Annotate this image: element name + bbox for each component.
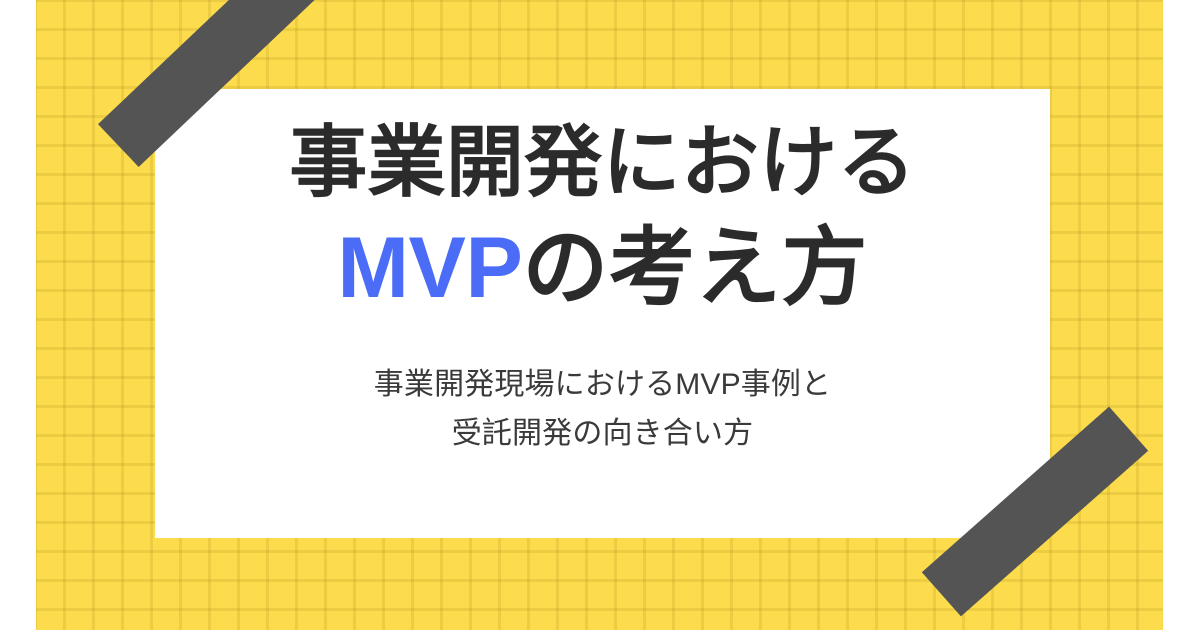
title-accent-mvp: MVP — [337, 220, 522, 316]
title-line-2: MVPの考え方 — [289, 219, 916, 319]
subtitle-line-1: 事業開発現場におけるMVP事例と — [374, 361, 831, 410]
slide-text-block: 事業開発における MVPの考え方 事業開発現場におけるMVP事例と 受託開発の向… — [155, 89, 1050, 538]
title-line-1: 事業開発における — [289, 117, 916, 207]
page-subtitle: 事業開発現場におけるMVP事例と 受託開発の向き合い方 — [374, 361, 831, 458]
title-line-2-tail: の考え方 — [522, 220, 867, 316]
page-title: 事業開発における MVPの考え方 — [289, 117, 916, 319]
slide-canvas: 事業開発における MVPの考え方 事業開発現場におけるMVP事例と 受託開発の向… — [0, 0, 1200, 630]
subtitle-line-2: 受託開発の向き合い方 — [374, 410, 831, 459]
